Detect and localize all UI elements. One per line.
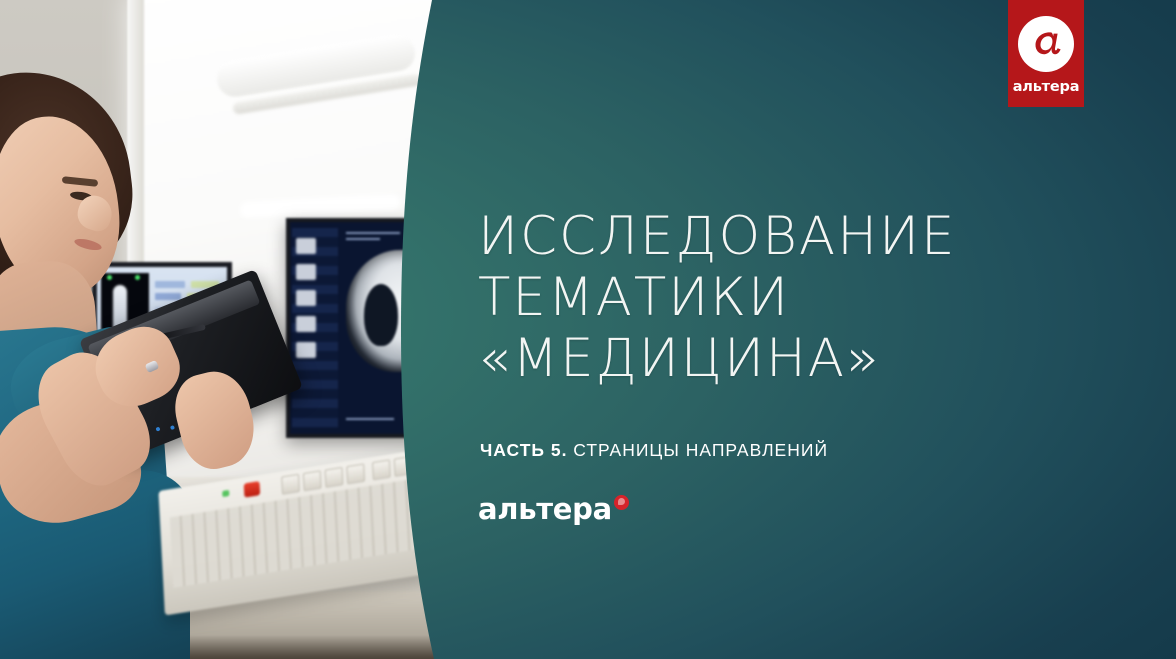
altera-wordmark: альтера [478,494,629,524]
keyboard-function-key [346,464,365,485]
altera-logo-badge[interactable]: альтера [1008,0,1084,107]
ct-thumbnail [296,264,316,280]
ct-thumbnail [296,342,316,358]
page-title: ИССЛЕДОВАНИЕ ТЕМАТИКИ «МЕДИЦИНА» [478,206,1098,389]
tablet-indicator [170,425,175,430]
radiologist-reviewing-ct-scans-photo [0,0,460,659]
ui-row [155,281,185,288]
altera-badge-label: альтера [1013,79,1080,95]
slide-subtitle: ЧАСТЬ 5. СТРАНИЦЫ НАПРАВЛЕНИЙ [480,440,828,461]
keyboard-function-key [372,459,391,480]
asterisk-dot-icon [614,495,629,510]
subtitle-section-name: СТРАНИЦЫ НАПРАВЛЕНИЙ [567,440,828,460]
title-line-2: ТЕМАТИКИ [478,267,1098,328]
altera-wordmark-text: альтера [478,494,612,524]
ui-row [155,293,181,300]
title-line-3: «МЕДИЦИНА» [478,328,1098,389]
keyboard-function-key [281,474,300,495]
subtitle-part-number: ЧАСТЬ 5. [480,440,567,460]
title-line-1: ИССЛЕДОВАНИЕ [478,206,1098,267]
tablet-indicator [155,427,160,432]
ct-lung-field [364,284,398,346]
presentation-slide: ИССЛЕДОВАНИЕ ТЕМАТИКИ «МЕДИЦИНА» ЧАСТЬ 5… [0,0,1176,659]
ct-overlay-text [346,232,400,234]
keyboard-status-led [222,490,229,497]
ct-thumbnail [296,238,316,254]
ct-overlay-text [346,238,380,240]
status-led-green [135,275,140,280]
status-led-green [107,275,112,280]
ct-overlay-text [346,418,394,420]
altera-a-monogram-icon [1018,16,1074,72]
keyboard-function-key [325,467,344,488]
keyboard-function-key [303,470,322,491]
keyboard-keys [170,478,423,588]
ct-thumbnail [296,290,316,306]
keyboard-emergency-button [244,481,261,498]
ct-thumbnail [296,316,316,332]
desk-shadow [170,635,460,659]
